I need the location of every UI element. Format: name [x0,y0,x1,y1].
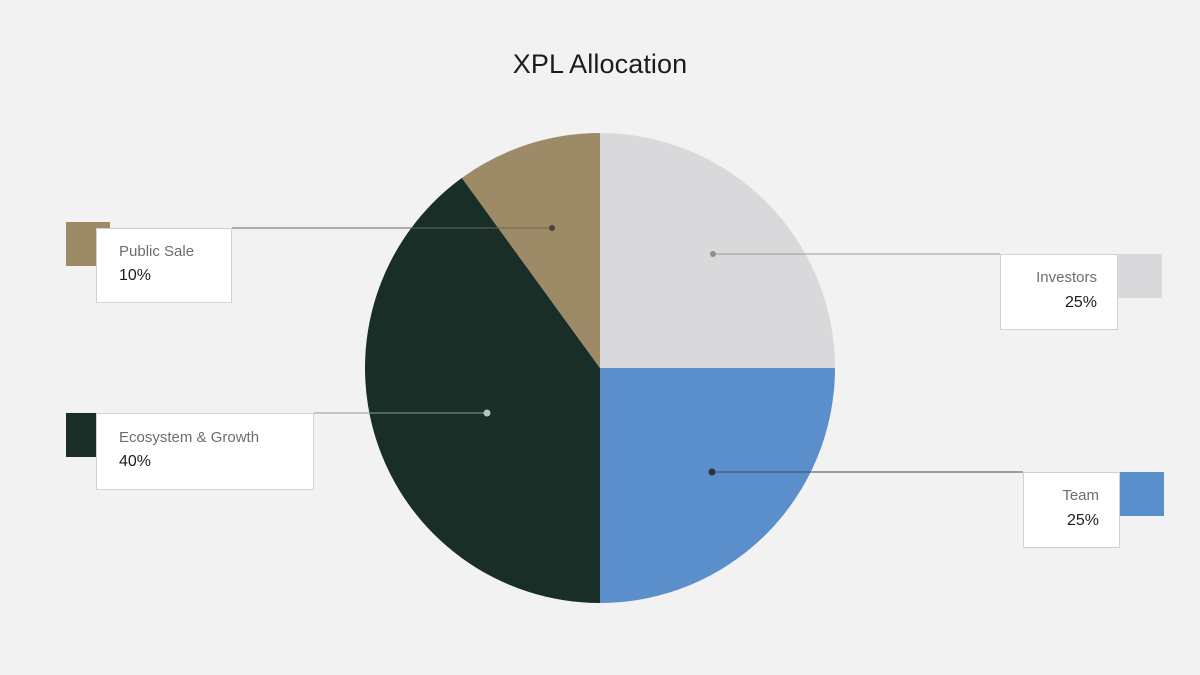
callout-ecosystem-growth[interactable]: Ecosystem & Growth 40% [96,413,314,490]
pie-svg [365,133,835,603]
callout-investors-value: 25% [1065,291,1097,314]
callout-ecosystem-growth-value: 40% [119,450,295,473]
callout-public-sale-name: Public Sale [119,242,213,262]
pie-chart [365,133,835,603]
callout-team-value: 25% [1067,509,1099,532]
callout-investors[interactable]: Investors 25% [1000,254,1118,330]
legend-swatch-team [1120,472,1164,516]
pie-slice-team[interactable] [600,368,835,603]
callout-public-sale-value: 10% [119,264,213,287]
legend-swatch-investors [1118,254,1162,298]
callout-team-name: Team [1062,486,1099,506]
callout-public-sale[interactable]: Public Sale 10% [96,228,232,303]
callout-team[interactable]: Team 25% [1023,472,1120,548]
page-title: XPL Allocation [0,48,1200,80]
chart-canvas: XPL Allocation Public Sale 10% [0,0,1200,675]
pie-slice-investors[interactable] [600,133,835,368]
callout-investors-name: Investors [1036,268,1097,288]
callout-ecosystem-growth-name: Ecosystem & Growth [119,428,295,448]
